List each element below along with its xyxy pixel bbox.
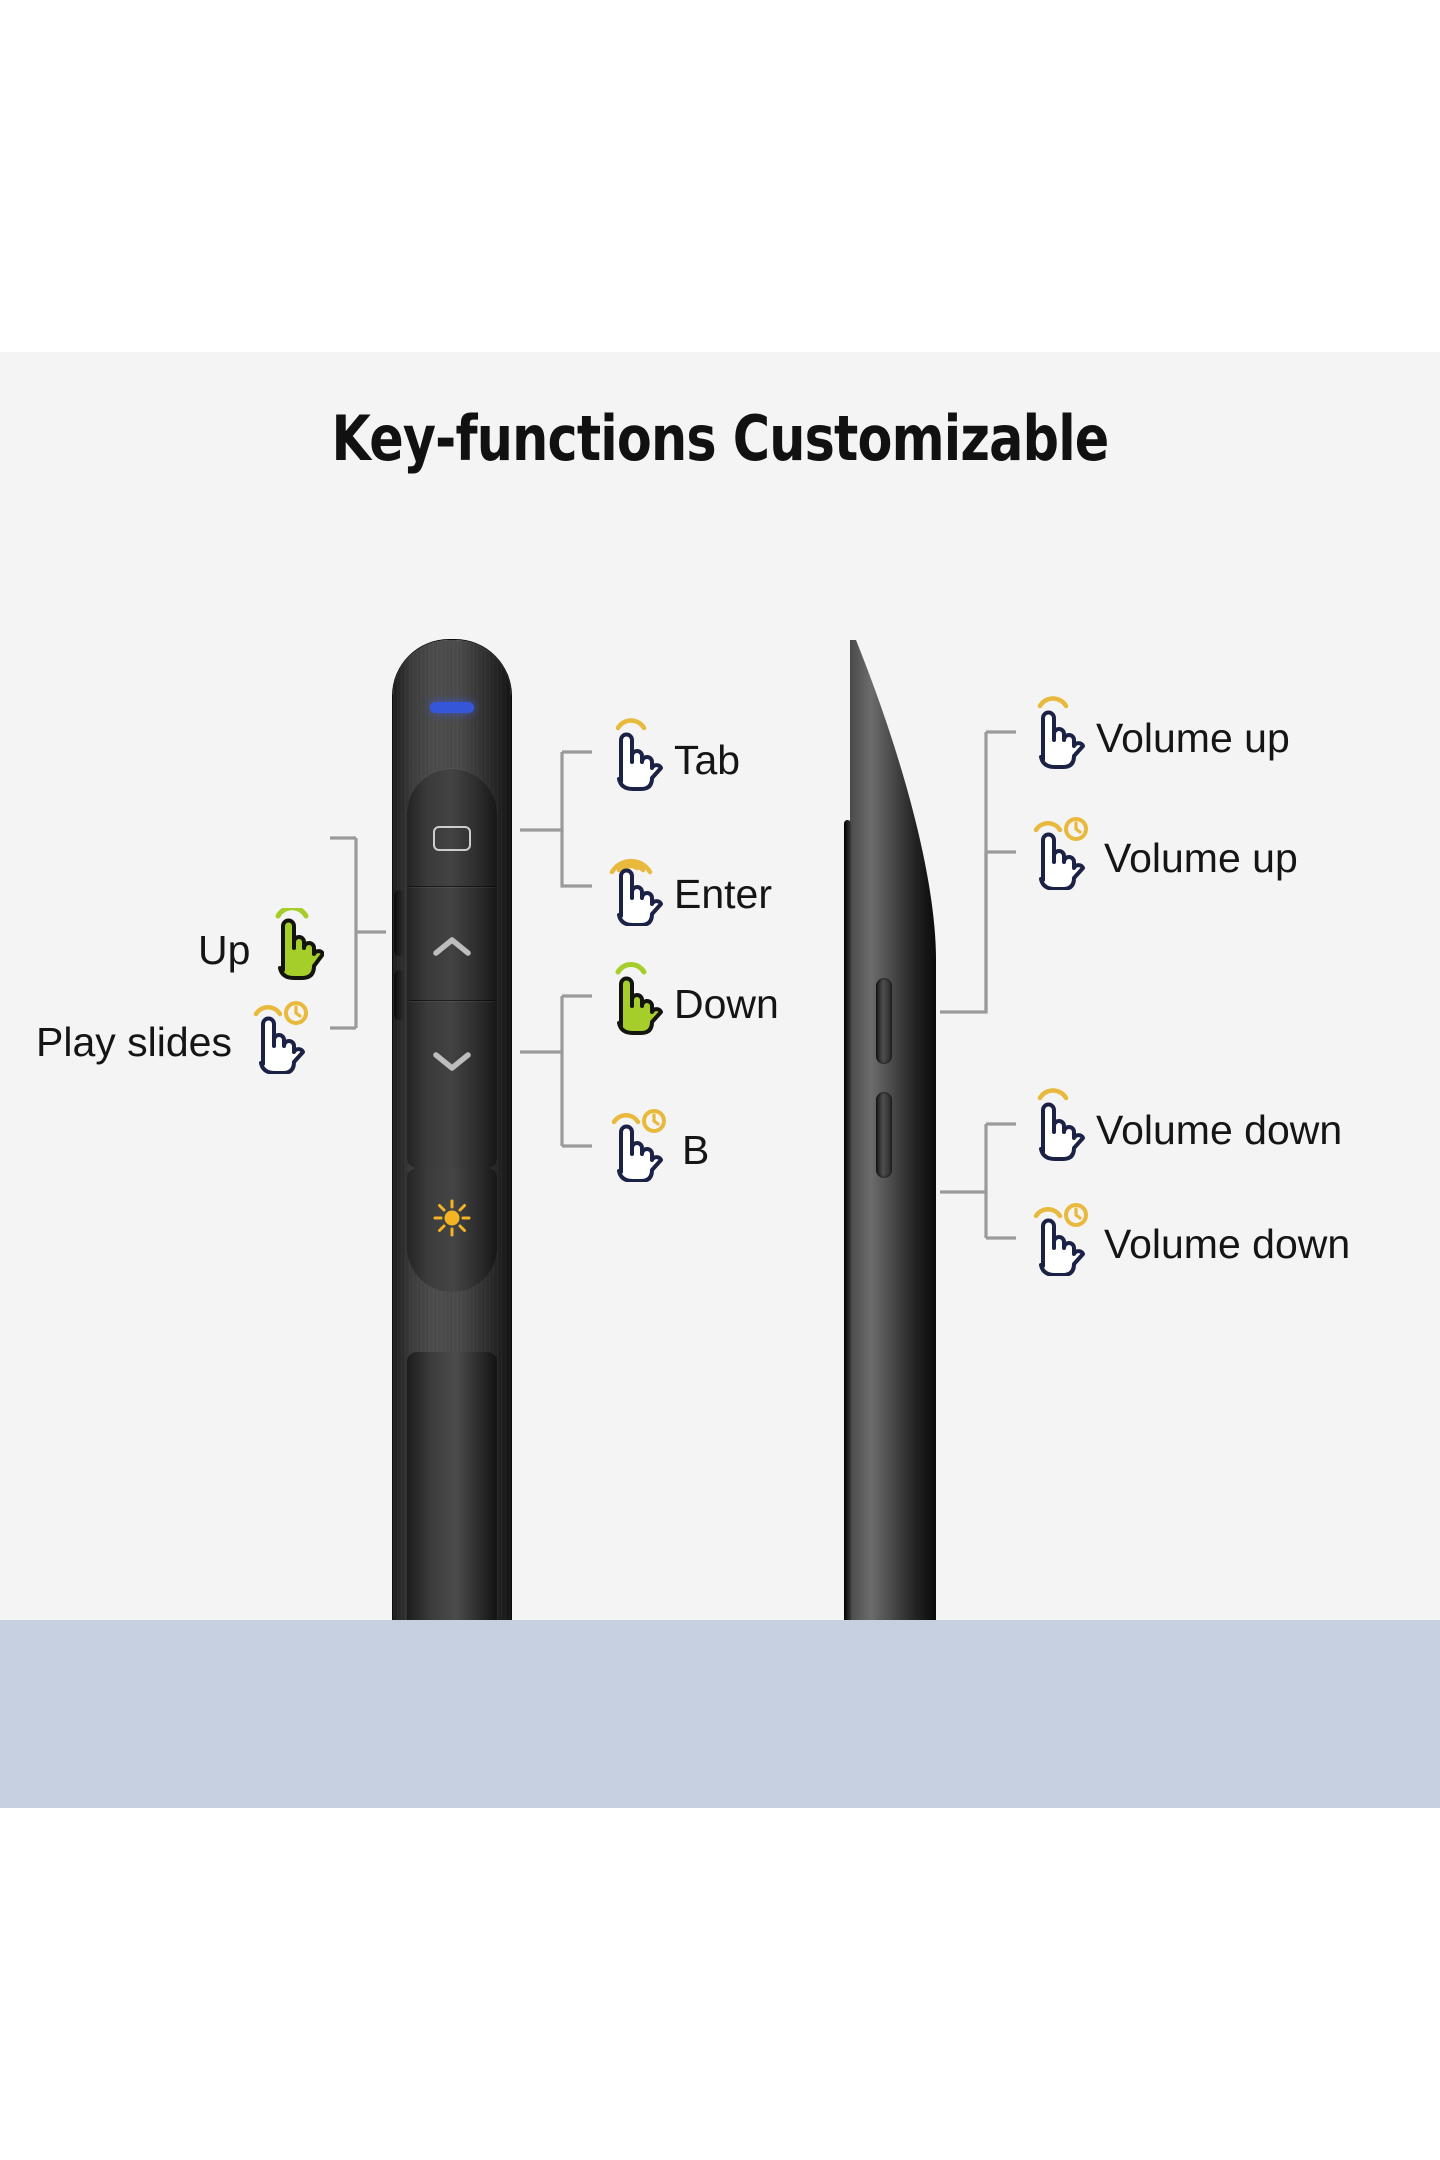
remote-side-notch	[394, 970, 404, 1020]
down-key[interactable]	[407, 1044, 497, 1083]
label-volume-down-press: Volume down	[1022, 1088, 1342, 1172]
label-down: Down	[600, 962, 779, 1046]
hand-tap-icon	[600, 962, 664, 1046]
label-volume-up-press: Volume up	[1022, 696, 1290, 780]
volume-down-key[interactable]	[876, 1092, 892, 1178]
key-divider	[409, 886, 495, 887]
up-key[interactable]	[407, 930, 497, 969]
screen-key-icon	[433, 826, 471, 851]
hand-tap-icon	[600, 718, 664, 802]
label-enter-text: Enter	[674, 871, 772, 918]
label-volume-down-press-text: Volume down	[1096, 1107, 1342, 1154]
label-tab: Tab	[600, 718, 740, 802]
footer-band-rim	[0, 1620, 1440, 1808]
key-divider	[409, 1000, 495, 1001]
screen-key[interactable]	[407, 826, 497, 851]
label-play-slides: Play slides	[36, 1000, 314, 1084]
label-down-text: Down	[674, 981, 779, 1028]
status-led	[430, 702, 474, 713]
label-volume-up-longpress: Volume up	[1022, 816, 1298, 900]
chevron-down-icon	[407, 1044, 497, 1078]
label-up-text: Up	[198, 927, 250, 974]
label-volume-up-press-text: Volume up	[1096, 715, 1290, 762]
volume-up-key[interactable]	[876, 978, 892, 1064]
laser-key-icon	[407, 1196, 497, 1245]
hand-longpress-icon	[1022, 816, 1094, 900]
label-enter: Enter	[600, 852, 772, 936]
label-play-slides-text: Play slides	[36, 1019, 232, 1066]
hand-tap-icon	[1022, 696, 1086, 780]
hand-longpress-icon	[242, 1000, 314, 1084]
chevron-up-icon	[407, 930, 497, 964]
label-up: Up	[198, 908, 324, 992]
hand-longpress-icon	[1022, 1202, 1094, 1286]
hand-longpress-icon	[600, 852, 664, 936]
label-volume-down-longpress: Volume down	[1022, 1202, 1350, 1286]
hand-tap-icon	[1022, 1088, 1086, 1172]
label-b: B	[600, 1108, 709, 1192]
hand-longpress-icon	[600, 1108, 672, 1192]
label-tab-text: Tab	[674, 737, 740, 784]
remote-side-notch	[394, 890, 404, 956]
label-b-text: B	[682, 1127, 709, 1174]
hand-tap-icon	[260, 908, 324, 992]
label-volume-up-longpress-text: Volume up	[1104, 835, 1298, 882]
footer-band	[0, 1620, 1440, 1808]
label-volume-down-longpress-text: Volume down	[1104, 1221, 1350, 1268]
content-panel: Key-functions Customizable	[0, 352, 1440, 1808]
infographic-page: Key-functions Customizable	[0, 0, 1440, 2160]
